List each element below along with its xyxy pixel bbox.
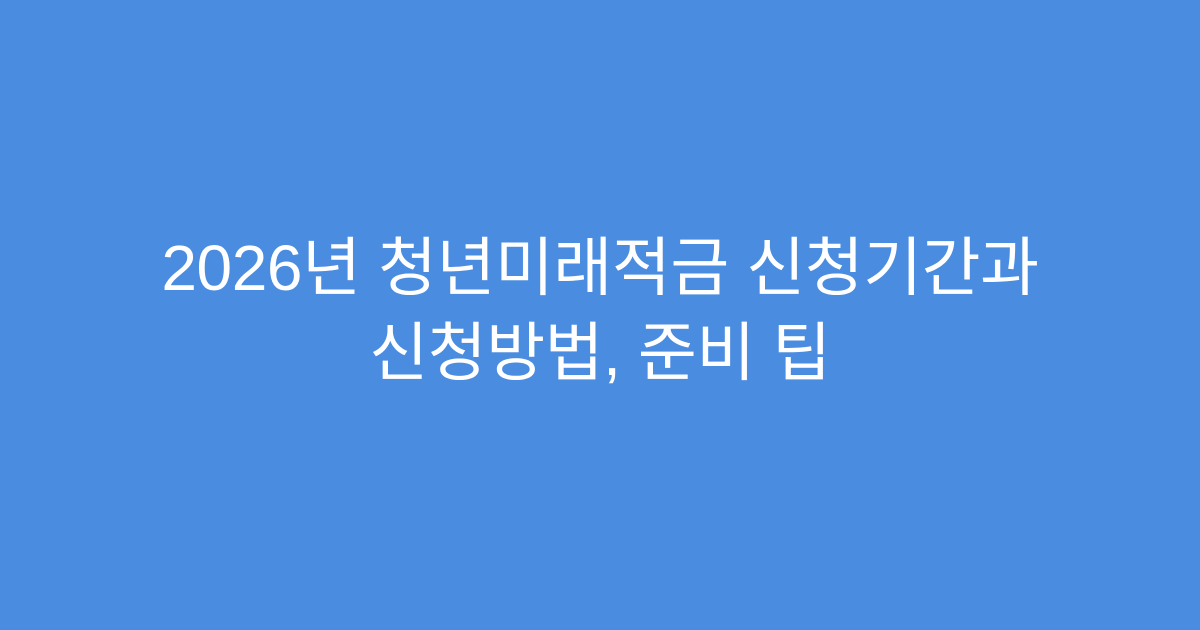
thumbnail-card: 2026년 청년미래적금 신청기간과 신청방법, 준비 팁: [0, 0, 1200, 630]
title-line-2: 신청방법, 준비 팁: [100, 311, 1100, 396]
page-title: 2026년 청년미래적금 신청기간과 신청방법, 준비 팁: [80, 226, 1120, 396]
title-line-1: 2026년 청년미래적금 신청기간과: [100, 226, 1100, 311]
